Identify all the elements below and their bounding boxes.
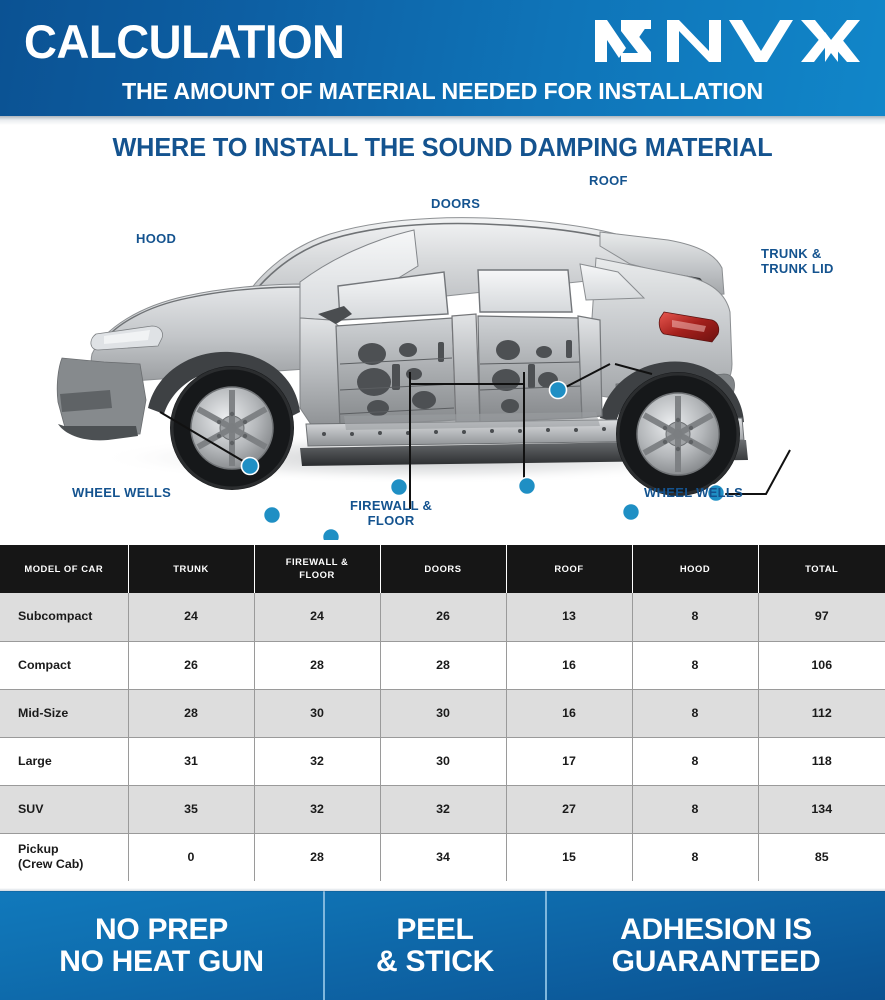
- section-title: WHERE TO INSTALL THE SOUND DAMPING MATER…: [4, 134, 880, 163]
- cell-roof: 16: [506, 641, 632, 689]
- table-row: Pickup (Crew Cab) 0 28 34 15 8 85: [0, 833, 885, 881]
- cell-firewall: 32: [254, 737, 380, 785]
- cell-model: Large: [0, 737, 128, 785]
- col-header-roof: ROOF: [506, 545, 632, 593]
- col-header-firewall-floor: FIREWALL & FLOOR: [254, 545, 380, 593]
- table-head: MODEL OF CAR TRUNK FIREWALL & FLOOR DOOR…: [0, 545, 885, 593]
- cell-trunk: 0: [128, 833, 254, 881]
- cell-total: 85: [758, 833, 885, 881]
- col-header-trunk: TRUNK: [128, 545, 254, 593]
- cell-firewall: 28: [254, 641, 380, 689]
- cell-firewall: 30: [254, 689, 380, 737]
- nvx-logo-mark: [593, 18, 861, 64]
- cell-model: Compact: [0, 641, 128, 689]
- cell-total: 106: [758, 641, 885, 689]
- label-doors: DOORS: [431, 197, 480, 212]
- cell-roof: 13: [506, 593, 632, 641]
- col-header-hood: HOOD: [632, 545, 758, 593]
- cell-roof: 27: [506, 785, 632, 833]
- cell-trunk: 31: [128, 737, 254, 785]
- material-table-wrap: MODEL OF CAR TRUNK FIREWALL & FLOOR DOOR…: [0, 545, 885, 881]
- header-subtitle: THE AMOUNT OF MATERIAL NEEDED FOR INSTAL…: [4, 78, 880, 105]
- front-lower-lip: [58, 424, 138, 440]
- table-row: Subcompact 24 24 26 13 8 97: [0, 593, 885, 641]
- cell-total: 97: [758, 593, 885, 641]
- header-banner: CALCULATION: [0, 0, 885, 116]
- col-header-model: MODEL OF CAR: [0, 545, 128, 593]
- footer-banner: NO PREP NO HEAT GUN PEEL & STICK ADHESIO…: [0, 891, 885, 1000]
- cell-hood: 8: [632, 593, 758, 641]
- cell-roof: 16: [506, 689, 632, 737]
- rear-window-opening: [478, 270, 572, 312]
- cell-hood: 8: [632, 689, 758, 737]
- marker-hood[interactable]: [242, 458, 259, 475]
- footer-cell-peel-and-stick: PEEL & STICK: [325, 891, 547, 1000]
- col-header-doors: DOORS: [380, 545, 506, 593]
- label-trunk-and-trunk-lid: TRUNK & TRUNK LID: [761, 247, 834, 276]
- cell-trunk: 35: [128, 785, 254, 833]
- cell-hood: 8: [632, 737, 758, 785]
- cell-total: 118: [758, 737, 885, 785]
- cell-total: 134: [758, 785, 885, 833]
- a-pillar-frame: [300, 318, 342, 426]
- marker-rear-wheel-well[interactable]: [623, 504, 640, 521]
- cell-model: SUV: [0, 785, 128, 833]
- marker-firewall[interactable]: [323, 529, 340, 541]
- cell-doors: 28: [380, 641, 506, 689]
- cell-hood: 8: [632, 785, 758, 833]
- cell-doors: 30: [380, 737, 506, 785]
- marker-front-fender[interactable]: [264, 507, 281, 524]
- table-row: SUV 35 32 32 27 8 134: [0, 785, 885, 833]
- cell-firewall: 28: [254, 833, 380, 881]
- footer-cell-no-prep-no-heat-gun: NO PREP NO HEAT GUN: [0, 891, 325, 1000]
- cell-roof: 17: [506, 737, 632, 785]
- b-pillar: [452, 314, 480, 424]
- cell-trunk: 24: [128, 593, 254, 641]
- page-title: CALCULATION: [24, 18, 345, 65]
- table-row: Large 31 32 30 17 8 118: [0, 737, 885, 785]
- infographic-page: CALCULATION: [0, 0, 885, 1000]
- material-table: MODEL OF CAR TRUNK FIREWALL & FLOOR DOOR…: [0, 545, 885, 881]
- cell-trunk: 26: [128, 641, 254, 689]
- label-firewall-and-floor: FIREWALL & FLOOR: [350, 499, 432, 528]
- cell-firewall: 24: [254, 593, 380, 641]
- cell-doors: 32: [380, 785, 506, 833]
- table-body: Subcompact 24 24 26 13 8 97 Compact 26 2…: [0, 593, 885, 881]
- header-top-row: CALCULATION: [0, 12, 885, 70]
- cell-model: Pickup (Crew Cab): [0, 833, 128, 881]
- label-wheel-wells-rear: WHEEL WELLS: [644, 486, 743, 501]
- cell-doors: 30: [380, 689, 506, 737]
- cell-doors: 34: [380, 833, 506, 881]
- cell-roof: 15: [506, 833, 632, 881]
- cell-hood: 8: [632, 833, 758, 881]
- col-header-total: TOTAL: [758, 545, 885, 593]
- marker-front-door[interactable]: [391, 479, 408, 496]
- label-wheel-wells-front: WHEEL WELLS: [72, 486, 171, 501]
- label-roof: ROOF: [589, 174, 628, 189]
- car-diagram: HOOD DOORS ROOF TRUNK & TRUNK LID WHEEL …: [0, 168, 885, 540]
- marker-roof[interactable]: [550, 382, 567, 399]
- cell-hood: 8: [632, 641, 758, 689]
- footer-cell-adhesion-is-guaranteed: ADHESION IS GUARANTEED: [547, 891, 885, 1000]
- cell-model: Subcompact: [0, 593, 128, 641]
- cell-model: Mid-Size: [0, 689, 128, 737]
- marker-rear-door[interactable]: [519, 478, 536, 495]
- cell-trunk: 28: [128, 689, 254, 737]
- nvx-brand-logo: [593, 18, 861, 64]
- table-row: Mid-Size 28 30 30 16 8 112: [0, 689, 885, 737]
- table-row: Compact 26 28 28 16 8 106: [0, 641, 885, 689]
- table-header-row: MODEL OF CAR TRUNK FIREWALL & FLOOR DOOR…: [0, 545, 885, 593]
- label-hood: HOOD: [136, 232, 176, 247]
- c-pillar: [578, 316, 602, 418]
- rear-wheel: [616, 372, 740, 496]
- cell-firewall: 32: [254, 785, 380, 833]
- header-shadow-divider: [0, 116, 885, 125]
- cell-total: 112: [758, 689, 885, 737]
- cell-doors: 26: [380, 593, 506, 641]
